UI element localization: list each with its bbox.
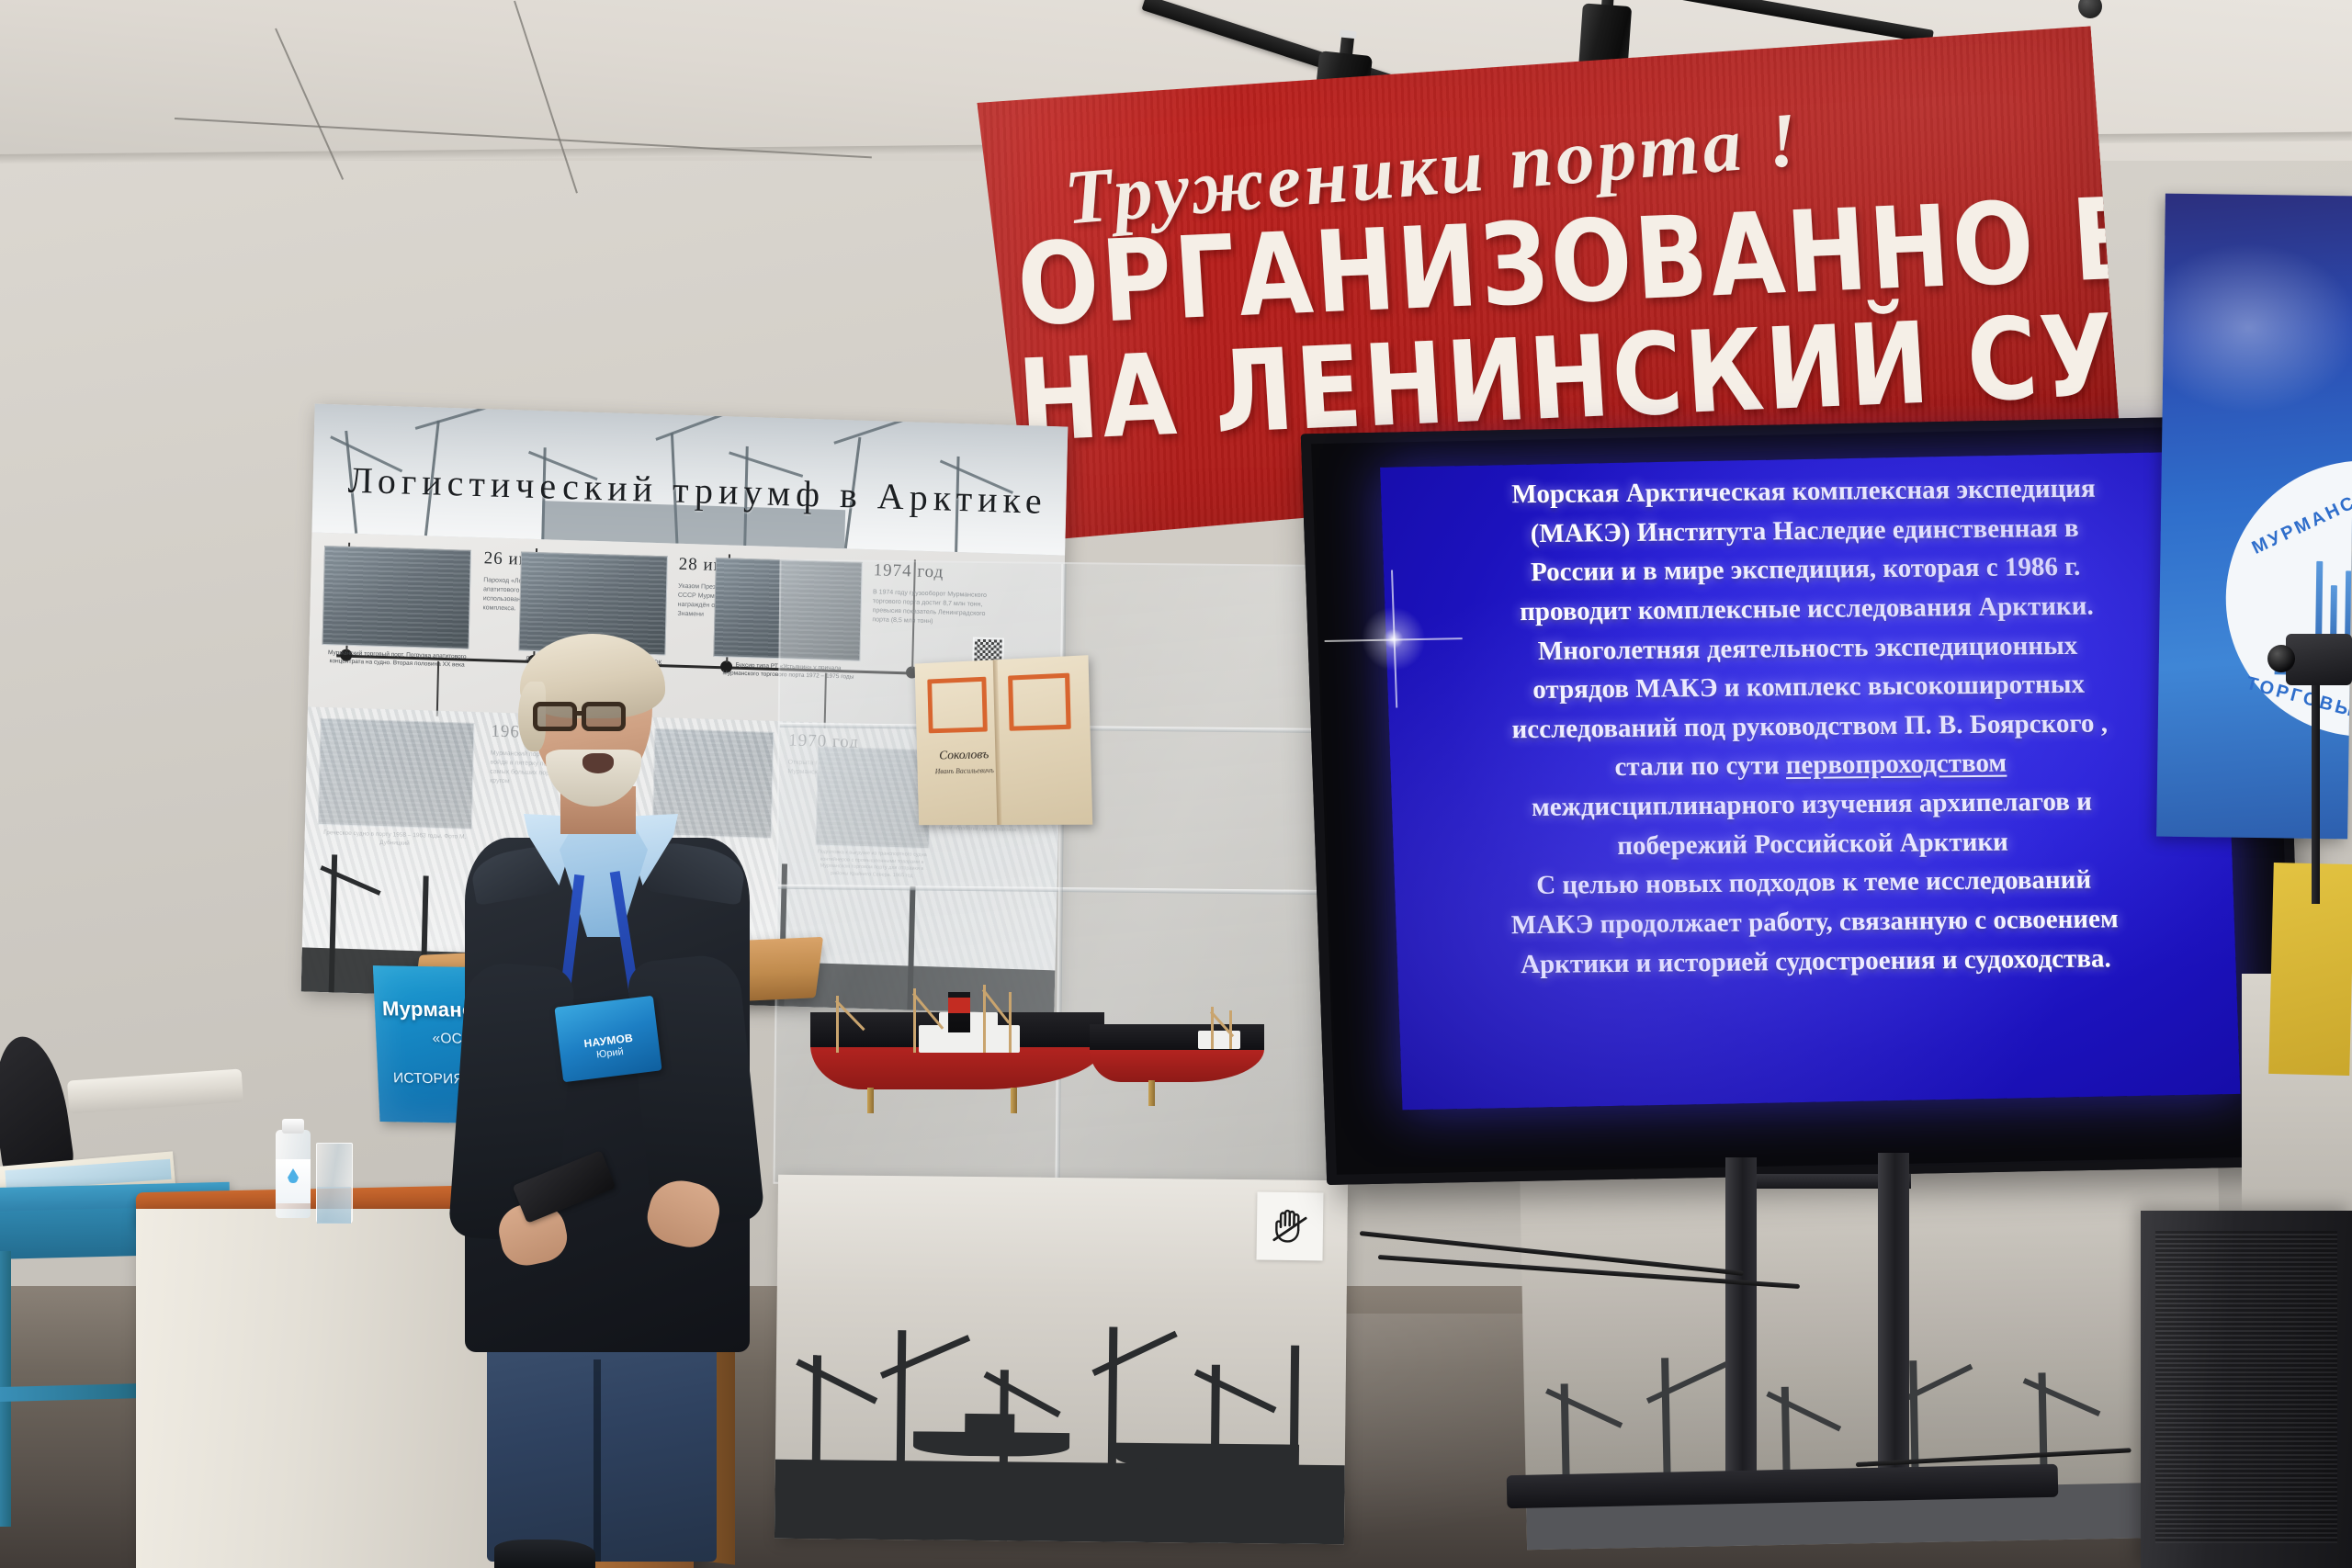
ship-model-small [1090,994,1264,1082]
book-subtitle: Иванъ Васильевичъ [928,766,1001,775]
slide-line: МАКЭ продолжает работу, связанную с осво… [1510,904,2119,940]
port-silhouette [1545,1388,1623,1427]
slide-line: междисциплинарного изучения архипелагов … [1532,787,2093,822]
slide-line: проводит комплексные исследования Арктик… [1520,592,2094,627]
slide-line: С целью новых подходов к теме исследован… [1536,865,2092,900]
port-silhouette [2023,1378,2101,1416]
ship-silhouette [913,1431,1069,1457]
logo-bar-glyph [2315,556,2352,640]
eyeglasses-icon [533,702,577,731]
presentation-display: Морская Арктическая комплексная экспедиц… [1301,415,2305,1185]
name-badge: НАУМОВ Юрий [554,996,661,1083]
bottle-cap [282,1119,304,1134]
ground-band [775,1460,1345,1544]
presenter-mouth [582,753,614,773]
slide-line: побережий Российской Арктики [1617,827,2008,860]
port-silhouette [1766,1392,1841,1432]
display-case [773,559,1344,1190]
murmansk-port-logo-banner: МУРМАНСКИЙ 1915 ТОРГОВЫЙ [2156,194,2352,840]
display-stand-column [1725,1157,1757,1488]
port-silhouette [1091,1331,1177,1376]
display-stand-column [1878,1153,1909,1493]
ship-silhouette [965,1414,1014,1435]
book-title: Соколовъ [929,748,999,764]
slide-line: отрядов МАКЭ и комплекс высокоширотных [1532,670,2085,705]
yellow-exhibit-panel [2268,863,2352,1076]
slide-line: Многолетняя деятельность экспедиционных [1537,630,2077,665]
historic-book-exhibit: Соколовъ Иванъ Васильевичъ [915,655,1093,825]
book-decorative-frame [927,677,988,734]
slide-emphasis-prefix: стали по сути [1614,751,1786,783]
video-camera [2286,634,2352,685]
photo-scene: Труженики порта ! ОРГАНИЗОВАННО ВЫЙДЕМ Н… [0,0,2352,1568]
eyeglasses-icon [582,702,626,731]
presenter-shoe [494,1540,595,1568]
presentation-slide: Морская Арктическая комплексная экспедиц… [1380,451,2240,1110]
book-spine [993,660,1002,825]
port-silhouette [1646,1361,1728,1404]
slide-line: исследований под руководством П. В. Бояр… [1511,708,2108,744]
port-silhouette [796,1359,877,1404]
hand-no-touch-icon [1270,1205,1311,1248]
pa-speaker-grille [2155,1231,2337,1543]
book-decorative-frame [1008,673,1071,731]
presenter-leg-seam [594,1359,601,1562]
glass-water-level [317,1187,351,1224]
slide-line: России и в мире экспедиция, которая с 19… [1531,552,2081,587]
slide-emphasis-word: первопроходством [1785,749,2007,781]
slide-line: (МАКЭ) Института Наследие единственная в [1530,513,2079,547]
ship-model-large [810,972,1104,1089]
camera-lens-icon [2267,645,2295,672]
port-silhouette [984,1371,1061,1417]
port-silhouette [880,1335,970,1379]
slide-text: Морская Арктическая комплексная экспедиц… [1401,468,2219,985]
port-silhouette [1194,1370,1277,1414]
eyeglasses-bridge [575,711,586,716]
do-not-touch-sign [1256,1192,1323,1261]
slide-line: Арктики и историей судостроения и судохо… [1521,943,2111,979]
presenter: НАУМОВ Юрий [432,634,781,1562]
camera-stand-pole [2312,683,2320,904]
slide-line: Морская Арктическая комплексная экспедиц… [1511,474,2096,510]
